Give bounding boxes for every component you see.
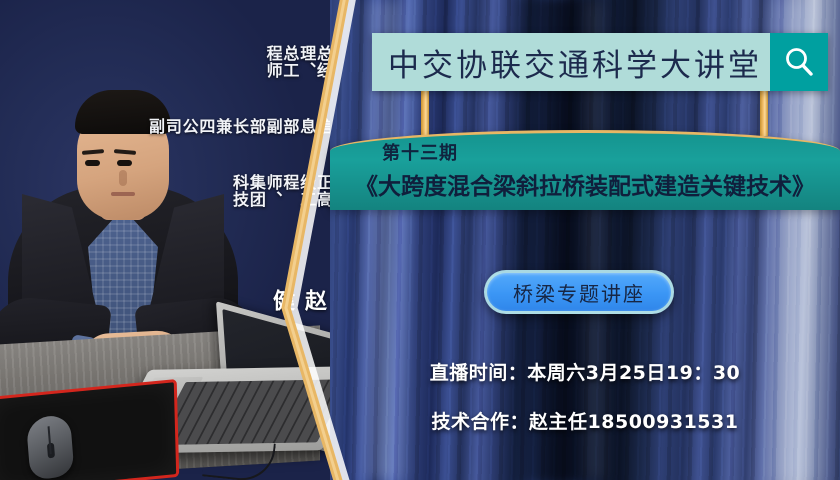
nose <box>119 170 127 186</box>
issue-number: 第十三期 <box>382 139 840 165</box>
search-button[interactable] <box>770 33 828 91</box>
banner-post-right <box>760 90 768 136</box>
mouse-pad <box>0 379 179 480</box>
event-info: 直播时间：本周六3月25日19：30 技术合作：赵主任18500931531 <box>330 358 840 434</box>
power-cord <box>202 436 276 480</box>
mouth <box>111 192 135 196</box>
banner-post-left <box>421 90 429 136</box>
header-banner: 中交协联交通科学大讲堂 <box>372 33 828 91</box>
category-pill-label: 桥梁专题讲座 <box>513 278 645 307</box>
eye-right <box>117 160 132 166</box>
category-pill[interactable]: 桥梁专题讲座 <box>484 270 674 314</box>
technical-contact: 技术合作：赵主任18500931531 <box>432 407 739 434</box>
computer-mouse <box>26 413 75 480</box>
mouse-wheel <box>46 443 54 459</box>
broadcast-time: 直播时间：本周六3月25日19：30 <box>430 358 741 385</box>
lecture-topic: 《大跨度混合梁斜拉桥装配式建造关键技术》 <box>330 167 840 201</box>
eye-left <box>85 160 100 166</box>
search-icon <box>782 45 816 79</box>
webinar-poster: 赵健 正高级工程师、集团科技 信息部副部长兼四公司副 总经理、总工程师 中交协联… <box>0 0 840 480</box>
banner-title: 中交协联交通科学大讲堂 <box>372 40 770 85</box>
subtitle-band: 第十三期 《大跨度混合梁斜拉桥装配式建造关键技术》 <box>330 130 840 210</box>
